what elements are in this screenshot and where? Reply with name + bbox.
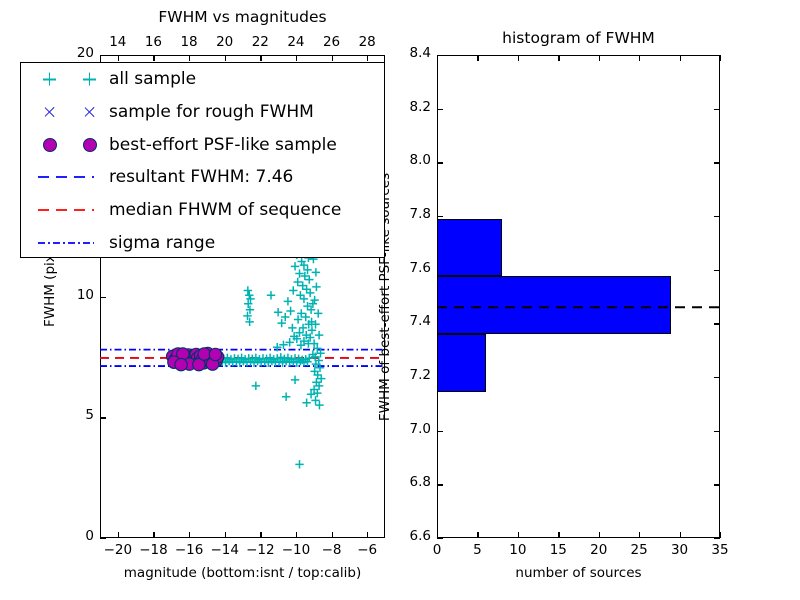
hist-xtick: [599, 532, 600, 538]
hist-right-ytick: [714, 484, 720, 485]
scatter-xtick: [189, 532, 190, 538]
legend-entry[interactable]: all sample: [21, 63, 384, 96]
hist-ytick: [437, 538, 443, 539]
scatter-top-xtick: [367, 55, 368, 61]
plot-legend: all samplesample for rough FWHMbest-effo…: [20, 62, 385, 258]
legend-entry[interactable]: sample for rough FWHM: [21, 96, 384, 129]
figure-canvas: −20−18−16−14−12−10−8−6141618202224262805…: [0, 0, 800, 600]
dashed-line: [37, 205, 95, 215]
scatter-ytick: [100, 538, 106, 539]
hist-ytick: [437, 431, 443, 432]
hist-yticklabel: 8.0: [389, 152, 431, 168]
hist-yticklabel: 6.6: [389, 528, 431, 544]
hist-xtick: [477, 532, 478, 538]
legend-entry-label: all sample: [109, 69, 196, 89]
hist-xtick: [518, 532, 519, 538]
legend-entry-label: best-effort PSF-like sample: [109, 135, 337, 155]
legend-entry-label: sigma range: [109, 233, 215, 253]
hist-top-xtick: [558, 55, 559, 61]
hist-right-ytick: [714, 55, 720, 56]
hist-right-ytick: [714, 538, 720, 539]
scatter-top-xtick: [260, 55, 261, 61]
histogram-bar: [437, 334, 486, 392]
scatter-ytick: [100, 55, 106, 56]
scatter-xtick: [118, 532, 119, 538]
scatter-ytick: [100, 297, 106, 298]
dashed-line: [37, 172, 95, 182]
scatter-yticklabel: 20: [48, 45, 94, 61]
x-marker: [43, 105, 56, 118]
plus-marker: [83, 73, 96, 86]
hist-ytick: [437, 109, 443, 110]
scatter-xtick: [367, 532, 368, 538]
scatter-top-xticklabel: 28: [341, 34, 393, 50]
hist-yticklabel: 8.4: [389, 45, 431, 61]
hist-ytick: [437, 55, 443, 56]
scatter-xtick: [225, 532, 226, 538]
hist-yticklabel: 6.8: [389, 474, 431, 490]
hist-right-ytick: [714, 323, 720, 324]
circle-marker: [83, 138, 97, 152]
hist-xticklabel: 0: [415, 542, 459, 558]
scatter-top-xtick: [332, 55, 333, 61]
hist-xticklabel: 10: [496, 542, 540, 558]
histogram-xlabel: number of sources: [437, 565, 720, 581]
hist-top-xtick: [599, 55, 600, 61]
hist-xtick: [720, 532, 721, 538]
legend-entry-label: median FHWM of sequence: [109, 200, 341, 220]
histogram-bar: [437, 276, 671, 334]
hist-yticklabel: 7.6: [389, 260, 431, 276]
hist-xticklabel: 30: [658, 542, 702, 558]
scatter-title: FWHM vs magnitudes: [100, 8, 385, 26]
hist-top-xtick: [518, 55, 519, 61]
hist-right-ytick: [714, 109, 720, 110]
hist-xticklabel: 20: [577, 542, 621, 558]
hist-xticklabel: 15: [536, 542, 580, 558]
hist-right-ytick: [714, 216, 720, 217]
hist-right-ytick: [714, 377, 720, 378]
dashdot-line: [37, 238, 95, 248]
x-marker: [83, 105, 96, 118]
scatter-xlabel: magnitude (bottom:isnt / top:calib): [78, 565, 407, 581]
histogram-bar: [437, 219, 502, 277]
legend-entry[interactable]: resultant FWHM: 7.46: [21, 161, 384, 194]
hist-xticklabel: 35: [698, 542, 742, 558]
legend-entry[interactable]: sigma range: [21, 226, 384, 259]
hist-right-ytick: [714, 270, 720, 271]
histogram-title: histogram of FWHM: [437, 29, 720, 47]
hist-yticklabel: 7.8: [389, 206, 431, 222]
legend-entry[interactable]: median FHWM of sequence: [21, 194, 384, 227]
hist-xtick: [558, 532, 559, 538]
hist-xticklabel: 5: [455, 542, 499, 558]
circle-marker: [43, 138, 57, 152]
hist-top-xtick: [639, 55, 640, 61]
scatter-yticklabel: 5: [48, 407, 94, 423]
hist-xticklabel: 25: [617, 542, 661, 558]
hist-yticklabel: 7.4: [389, 313, 431, 329]
legend-entry[interactable]: best-effort PSF-like sample: [21, 128, 384, 161]
hist-yticklabel: 7.0: [389, 421, 431, 437]
scatter-top-xtick: [225, 55, 226, 61]
hist-top-xtick: [720, 55, 721, 61]
scatter-xtick: [296, 532, 297, 538]
scatter-xtick: [332, 532, 333, 538]
hist-ytick: [437, 162, 443, 163]
hist-top-xtick: [680, 55, 681, 61]
scatter-top-xtick: [296, 55, 297, 61]
hist-ytick: [437, 216, 443, 217]
hist-right-ytick: [714, 431, 720, 432]
hist-top-xtick: [477, 55, 478, 61]
hist-right-ytick: [714, 162, 720, 163]
scatter-ytick: [100, 417, 106, 418]
legend-entry-label: sample for rough FWHM: [109, 102, 314, 122]
scatter-xtick: [153, 532, 154, 538]
hist-yticklabel: 8.2: [389, 99, 431, 115]
scatter-top-xtick: [153, 55, 154, 61]
scatter-xticklabel: −6: [341, 542, 393, 558]
scatter-top-xtick: [118, 55, 119, 61]
scatter-xtick: [260, 532, 261, 538]
hist-xtick: [639, 532, 640, 538]
scatter-top-xtick: [189, 55, 190, 61]
plus-marker: [43, 73, 56, 86]
hist-ytick: [437, 484, 443, 485]
legend-entry-label: resultant FWHM: 7.46: [109, 167, 293, 187]
hist-yticklabel: 7.2: [389, 367, 431, 383]
hist-xtick: [680, 532, 681, 538]
scatter-yticklabel: 0: [48, 528, 94, 544]
